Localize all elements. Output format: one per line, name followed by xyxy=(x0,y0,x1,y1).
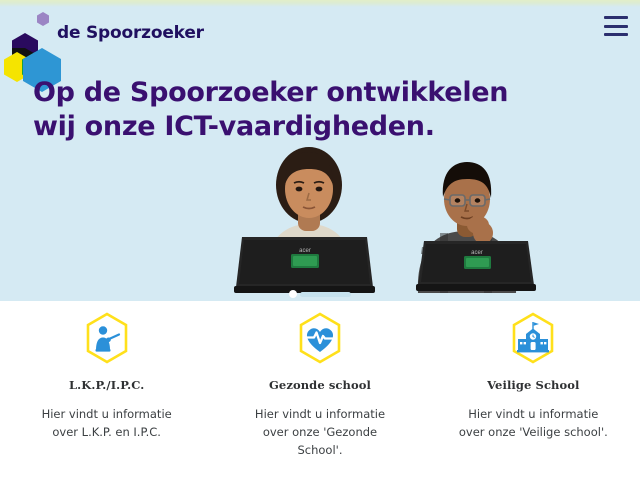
feature-cards: L.K.P./I.P.C. Hier vindt u informatie ov… xyxy=(0,312,640,459)
feature-card-title: L.K.P./I.P.C. xyxy=(69,378,144,392)
hero-headline-line2: wij onze ICT-vaardigheden. xyxy=(33,111,435,142)
svg-text:acer: acer xyxy=(471,250,483,256)
svg-text:acer: acer xyxy=(299,248,311,254)
page-root: de Spoorzoeker Op de Spoorzoeker ontwikk… xyxy=(0,0,640,500)
hero-photo-boy-laptop: acer xyxy=(400,155,540,293)
hero-photo-girl-laptop: acer xyxy=(228,141,390,293)
school-building-icon xyxy=(507,312,559,364)
carousel-dot-active[interactable] xyxy=(289,290,297,298)
teacher-pointer-icon xyxy=(81,312,133,364)
feature-card-gezonde-school[interactable]: Gezonde school Hier vindt u informatie o… xyxy=(213,312,426,459)
hamburger-line xyxy=(604,16,628,19)
feature-card-text: Hier vindt u informatie over onze 'Veili… xyxy=(457,406,609,442)
hero-section: de Spoorzoeker Op de Spoorzoeker ontwikk… xyxy=(0,0,640,301)
top-color-band xyxy=(0,0,640,7)
feature-card-text: Hier vindt u informatie over L.K.P. en I… xyxy=(31,406,183,442)
feature-card-title: Veilige School xyxy=(487,378,579,392)
hamburger-line xyxy=(604,25,628,28)
feature-card-veilige-school[interactable]: Veilige School Hier vindt u informatie o… xyxy=(427,312,640,459)
hamburger-line xyxy=(604,33,628,36)
feature-card-title: Gezonde school xyxy=(269,378,371,392)
heart-pulse-icon xyxy=(294,312,346,364)
feature-card-text: Hier vindt u informatie over onze 'Gezon… xyxy=(244,406,396,459)
hero-headline-line1: Op de Spoorzoeker ontwikkelen xyxy=(33,77,508,108)
carousel-progress-bar[interactable] xyxy=(300,292,351,297)
hamburger-menu-icon[interactable] xyxy=(604,16,628,36)
hero-carousel-indicators[interactable] xyxy=(289,290,351,298)
feature-card-lkp-ipc[interactable]: L.K.P./I.P.C. Hier vindt u informatie ov… xyxy=(0,312,213,459)
hero-headline: Op de Spoorzoeker ontwikkelen wij onze I… xyxy=(33,76,593,143)
brand-name[interactable]: de Spoorzoeker xyxy=(57,23,204,43)
